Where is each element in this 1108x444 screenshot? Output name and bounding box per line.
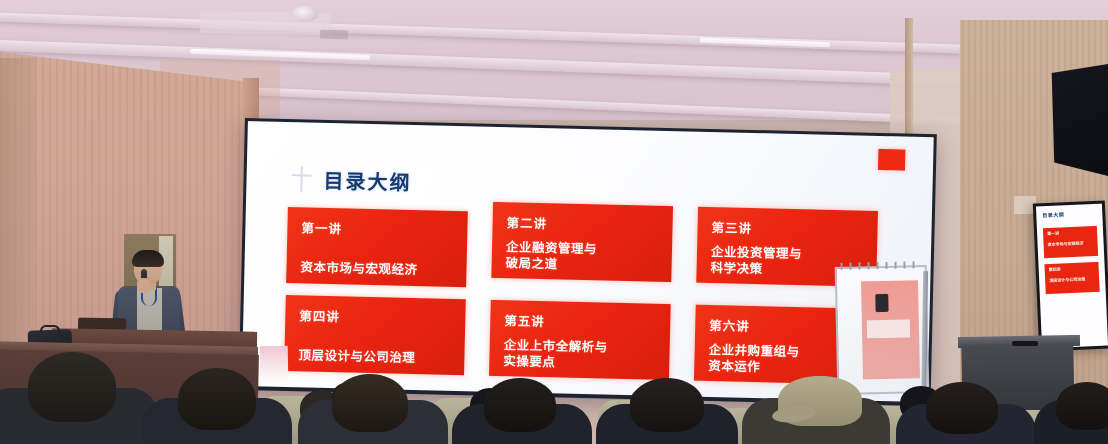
slide-logo-icon (878, 149, 905, 171)
monitor-card-number: 第一讲 (1047, 229, 1093, 237)
whiteboard-reflection (867, 319, 910, 338)
presentation-scene: 目录大纲 第一讲 资本市场与宏观经济 第二讲 企业融资管理与 破局之道 第三讲 … (0, 0, 1108, 444)
card-text: 资本市场与宏观经济 (300, 260, 454, 279)
audience-head (630, 378, 704, 432)
speaker-hand (137, 278, 150, 293)
card-number: 第三讲 (711, 217, 865, 240)
slide-title-group: 目录大纲 (291, 164, 412, 196)
smoke-detector-icon (292, 6, 318, 22)
monitor-card: 第一讲 资本市场与宏观经济 (1043, 226, 1098, 258)
audience-head (332, 374, 408, 432)
monitor-card-text: 顶层设计与公司治理 (1049, 277, 1095, 283)
monitor-slide-title: 目录大纲 (1042, 211, 1064, 219)
audience-head (178, 368, 256, 430)
ceiling-vent (320, 30, 348, 40)
card-number: 第二讲 (506, 212, 660, 235)
speaker-hair (132, 250, 164, 267)
card-number: 第一讲 (301, 217, 455, 240)
audience-rows (0, 352, 1108, 444)
confidence-monitor-screen: 目录大纲 第一讲 资本市场与宏观经济 第四讲 顶层设计与公司治理 (1036, 204, 1108, 349)
card-number: 第四讲 (299, 305, 453, 328)
monitor-card-number: 第四讲 (1049, 265, 1095, 273)
audience-head (926, 382, 998, 434)
slide-title: 目录大纲 (323, 165, 412, 196)
audience-head (28, 352, 116, 422)
whiteboard-marker (876, 294, 889, 312)
cabinet-handle (1012, 341, 1038, 346)
audience-head (1056, 382, 1108, 430)
audience-head (484, 378, 556, 432)
monitor-card: 第四讲 顶层设计与公司治理 (1044, 262, 1099, 294)
confidence-monitor: 目录大纲 第一讲 资本市场与宏观经济 第四讲 顶层设计与公司治理 (1033, 201, 1108, 352)
card-text: 企业融资管理与 破局之道 (505, 240, 660, 275)
card-number: 第五讲 (504, 310, 658, 333)
cross-decoration-icon (291, 166, 312, 192)
monitor-card-text: 资本市场与宏观经济 (1048, 241, 1094, 247)
slide-card: 第一讲 资本市场与宏观经济 (286, 207, 468, 287)
slide-card: 第二讲 企业融资管理与 破局之道 (491, 202, 673, 282)
bag-handle (40, 325, 60, 333)
